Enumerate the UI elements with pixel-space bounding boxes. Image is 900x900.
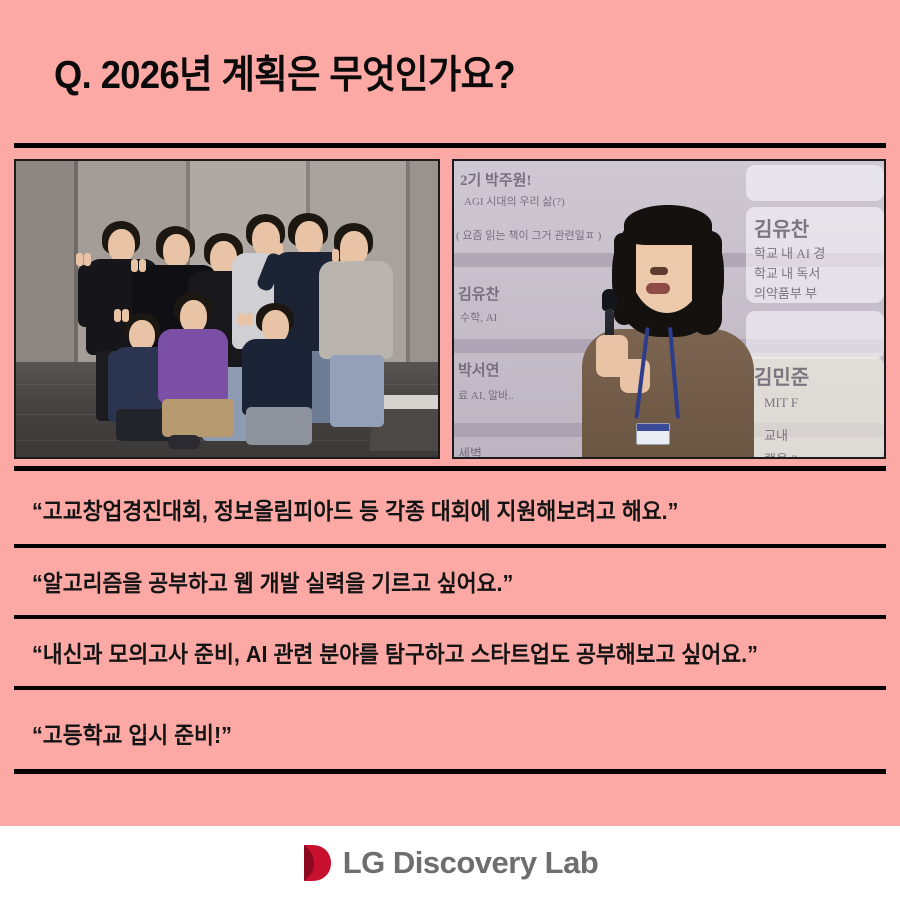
microphone-head-icon bbox=[602, 289, 617, 311]
speaker-hand-right bbox=[620, 359, 650, 393]
quote-2: “알고리즘을 공부하고 웹 개발 실력을 기르고 싶어요.” bbox=[32, 564, 835, 598]
slide-name-1: 김유찬 bbox=[754, 213, 809, 242]
speaker-photo: 2기 박주원! AGI 시대의 우리 삶(?) ( 요즘 읽는 책이 그거 관련… bbox=[452, 159, 886, 459]
slide-line-4: 김유찬 bbox=[458, 283, 499, 304]
divider-below-photos bbox=[14, 466, 886, 471]
slide-line-5: 수학, AI bbox=[460, 309, 497, 325]
promo-card: Q. 2026년 계획은 무엇인가요? bbox=[0, 0, 900, 900]
divider-quote-1 bbox=[14, 544, 886, 548]
lg-d-mark-icon bbox=[302, 843, 332, 883]
slide-line-7: 료 AI, 알바.. bbox=[458, 387, 514, 403]
quote-1: “고교창업경진대회, 정보올림피아드 등 각종 대회에 지원해보려고 해요.” bbox=[32, 492, 835, 526]
divider-quote-2 bbox=[14, 615, 886, 619]
slide-line-6: 박서연 bbox=[458, 359, 499, 380]
quote-4: “고등학교 입시 준비!” bbox=[32, 716, 835, 750]
brand-name: LG Discovery Lab bbox=[343, 845, 599, 881]
speaker-badge bbox=[636, 423, 670, 445]
slide-line-3: ( 요즘 읽는 책이 그거 관련일ㅍ ) bbox=[456, 227, 601, 243]
quote-3: “내신과 모의고사 준비, AI 관련 분야를 탐구하고 스타트업도 공부해보고… bbox=[32, 635, 835, 669]
brand-lockup: LG Discovery Lab bbox=[302, 843, 599, 883]
page-title: Q. 2026년 계획은 무엇인가요? bbox=[54, 52, 817, 100]
slide-line-8: 세벽 bbox=[458, 443, 482, 459]
slide-bullet-1: MIT F bbox=[764, 395, 798, 411]
slide-detail-3: 의약품부 부 bbox=[754, 283, 817, 302]
slide-line-2: AGI 시대의 우리 삶(?) bbox=[464, 193, 565, 209]
divider-top bbox=[14, 143, 886, 148]
photo-strip: 2기 박주원! AGI 시대의 우리 삶(?) ( 요즘 읽는 책이 그거 관련… bbox=[14, 159, 886, 459]
slide-line-1: 2기 박주원! bbox=[460, 169, 531, 190]
divider-quote-3 bbox=[14, 686, 886, 690]
divider-quote-4 bbox=[14, 769, 886, 774]
slide-bullet-3: 램을 2 bbox=[764, 449, 798, 459]
slide-detail-2: 학교 내 독서 bbox=[754, 263, 820, 282]
group-photo bbox=[14, 159, 440, 459]
slide-bullet-2: 교내 bbox=[764, 425, 788, 444]
slide-name-2: 김민준 bbox=[754, 361, 809, 390]
footer: LG Discovery Lab bbox=[0, 826, 900, 900]
slide-detail-1: 학교 내 AI 경 bbox=[754, 243, 825, 262]
